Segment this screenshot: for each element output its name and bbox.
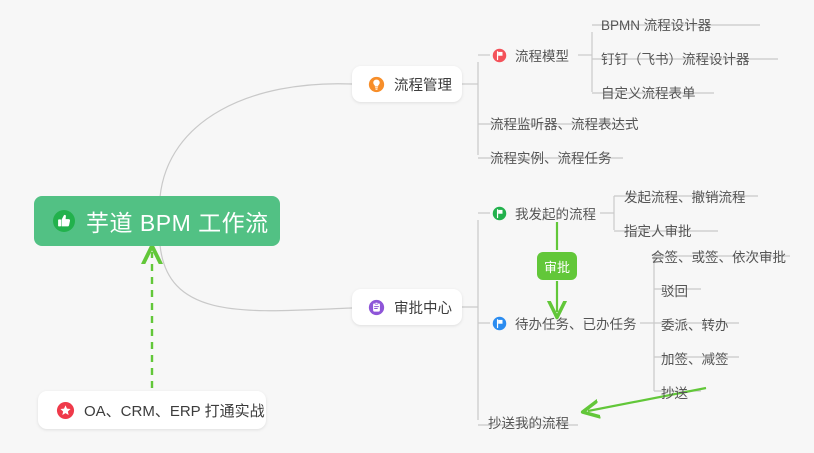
leaf-process-listener-expression[interactable]: 流程监听器、流程表达式: [490, 113, 639, 133]
leaf-label-process-model: 流程模型: [515, 45, 569, 65]
leaf-reject[interactable]: 驳回: [661, 280, 688, 300]
leaf-carbon-copy[interactable]: 抄送: [661, 382, 688, 402]
leaf-countersign-or-sequential[interactable]: 会签、或签、依次审批: [651, 246, 786, 266]
footer-node-integration[interactable]: OA、CRM、ERP 打通实战: [38, 391, 266, 429]
leaf-label-process-instance-task: 流程实例、流程任务: [490, 147, 612, 167]
red-flag-icon: [492, 48, 507, 63]
leaf-assignee-approval[interactable]: 指定人审批: [624, 220, 692, 240]
leaf-label-todo-done-tasks: 待办任务、已办任务: [515, 313, 637, 333]
leaf-label-reject: 驳回: [661, 280, 688, 300]
leaf-dingtalk-feishu-designer[interactable]: 钉钉（飞书）流程设计器: [601, 48, 750, 68]
root-label: 芋道 BPM 工作流: [86, 204, 269, 238]
branch-node-process-management[interactable]: 流程管理: [352, 66, 462, 102]
red-star-icon: [56, 401, 75, 420]
leaf-label-custom-process-form: 自定义流程表单: [601, 82, 696, 102]
leaf-label-bpmn-designer: BPMN 流程设计器: [601, 14, 711, 34]
leaf-start-cancel-process[interactable]: 发起流程、撤销流程: [624, 186, 746, 206]
leaf-label-process-listener-expression: 流程监听器、流程表达式: [490, 113, 639, 133]
branch-label-process-management: 流程管理: [394, 74, 452, 95]
leaf-label-cc-my-process: 抄送我的流程: [488, 412, 569, 432]
leaf-label-my-initiated-process: 我发起的流程: [515, 203, 596, 223]
leaf-label-carbon-copy: 抄送: [661, 382, 688, 402]
leaf-add-remove-sign[interactable]: 加签、减签: [661, 348, 729, 368]
leaf-delegate-transfer[interactable]: 委派、转办: [661, 314, 729, 334]
leaf-label-add-remove-sign: 加签、减签: [661, 348, 729, 368]
annotation-approve-label: 审批: [544, 257, 570, 276]
leaf-label-dingtalk-feishu-designer: 钉钉（飞书）流程设计器: [601, 48, 750, 68]
blue-flag-icon: [492, 316, 507, 331]
leaf-my-initiated-process[interactable]: 我发起的流程: [492, 203, 596, 223]
clipboard-icon: [368, 299, 385, 316]
leaf-custom-process-form[interactable]: 自定义流程表单: [601, 82, 696, 102]
root-node[interactable]: 芋道 BPM 工作流: [34, 196, 280, 246]
lightbulb-pin-icon: [368, 76, 385, 93]
footer-node-label: OA、CRM、ERP 打通实战: [84, 400, 265, 421]
leaf-label-assignee-approval: 指定人审批: [624, 220, 692, 240]
green-flag-icon: [492, 206, 507, 221]
leaf-bpmn-designer[interactable]: BPMN 流程设计器: [601, 14, 711, 34]
mindmap-canvas: 芋道 BPM 工作流 流程管理 流程模型 BPMN 流程设计器 钉钉（飞书: [0, 0, 814, 453]
leaf-process-model[interactable]: 流程模型: [492, 45, 569, 65]
leaf-process-instance-task[interactable]: 流程实例、流程任务: [490, 147, 612, 167]
branch-label-approval-center: 审批中心: [394, 297, 452, 318]
leaf-label-start-cancel-process: 发起流程、撤销流程: [624, 186, 746, 206]
annotation-approve-flow: 审批: [537, 252, 577, 280]
leaf-label-delegate-transfer: 委派、转办: [661, 314, 729, 334]
leaf-todo-done-tasks[interactable]: 待办任务、已办任务: [492, 313, 637, 333]
leaf-cc-my-process[interactable]: 抄送我的流程: [488, 412, 569, 432]
branch-node-approval-center[interactable]: 审批中心: [352, 289, 462, 325]
thumbs-up-icon: [52, 209, 76, 233]
leaf-label-countersign-or-sequential: 会签、或签、依次审批: [651, 246, 786, 266]
